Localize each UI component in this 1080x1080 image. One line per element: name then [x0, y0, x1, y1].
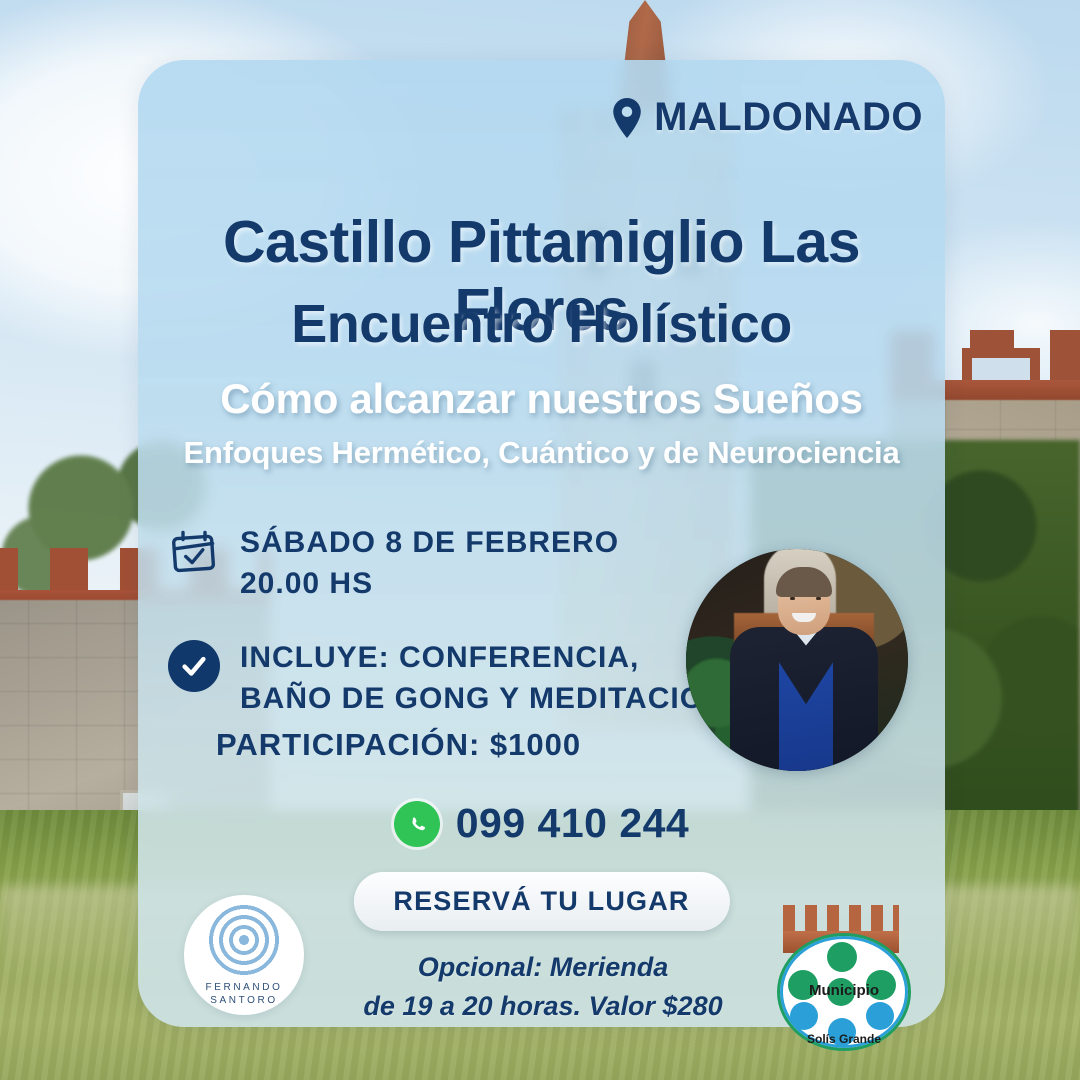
portrait-eye: [790, 597, 795, 600]
fernando-santoro-name: FERNANDO SANTORO: [206, 981, 283, 1008]
municipio-circle: Municipio Solís Grande: [777, 933, 911, 1051]
fs-line-2: SANTORO: [206, 994, 283, 1008]
optional-line-2: de 19 a 20 horas. Valor $280: [318, 987, 768, 1026]
poster-content: MALDONADO Castillo Pittamiglio Las Flore…: [138, 60, 945, 1027]
location-label: MALDONADO: [654, 95, 923, 140]
speaker-portrait: [686, 549, 908, 771]
municipio-dot-blue: [790, 1002, 818, 1030]
location-badge: MALDONADO: [612, 95, 923, 140]
municipio-label-2: Solís Grande: [780, 1032, 908, 1046]
calendar-check-icon: [168, 525, 220, 582]
date-row: SÁBADO 8 DE FEBRERO 20.00 HS: [168, 523, 619, 604]
includes-row: INCLUYE: CONFERENCIA, BAÑO DE GONG Y MED…: [168, 638, 727, 719]
municipio-dot-blue: [866, 1002, 894, 1030]
check-circle-icon: [168, 640, 220, 692]
date-line-2: 20.00 HS: [240, 564, 619, 605]
includes-line-2: BAÑO DE GONG Y MEDITACIÓN: [240, 679, 727, 720]
portrait-eye: [816, 597, 821, 600]
includes-line-1: INCLUYE: CONFERENCIA,: [240, 638, 727, 679]
includes-text-block: INCLUYE: CONFERENCIA, BAÑO DE GONG Y MED…: [240, 638, 727, 719]
event-poster: MALDONADO Castillo Pittamiglio Las Flore…: [0, 0, 1080, 1080]
fernando-santoro-logo: FERNANDO SANTORO: [184, 895, 304, 1015]
optional-note: Opcional: Merienda de 19 a 20 horas. Val…: [318, 948, 768, 1026]
municipio-label-1: Municipio: [780, 982, 908, 999]
fs-line-1: FERNANDO: [206, 981, 283, 995]
reserve-button[interactable]: RESERVÁ TU LUGAR: [353, 872, 729, 931]
date-line-1: SÁBADO 8 DE FEBRERO: [240, 523, 619, 564]
whatsapp-contact[interactable]: 099 410 244: [138, 800, 945, 847]
price-text: PARTICIPACIÓN: $1000: [216, 727, 581, 763]
subtitle-primary: Cómo alcanzar nuestros Sueños: [138, 375, 945, 423]
optional-line-1: Opcional: Merienda: [318, 948, 768, 987]
concentric-circles-icon: [207, 903, 281, 977]
date-text-block: SÁBADO 8 DE FEBRERO 20.00 HS: [240, 523, 619, 604]
phone-number[interactable]: 099 410 244: [456, 800, 690, 847]
map-pin-icon: [612, 98, 642, 138]
subtitle-secondary: Enfoques Hermético, Cuántico y de Neuroc…: [138, 435, 945, 471]
municipio-logo: Municipio Solís Grande: [775, 905, 907, 1045]
whatsapp-icon[interactable]: [394, 801, 440, 847]
title-line-2: Encuentro Holístico: [138, 293, 945, 355]
municipio-dot-green: [827, 942, 857, 972]
